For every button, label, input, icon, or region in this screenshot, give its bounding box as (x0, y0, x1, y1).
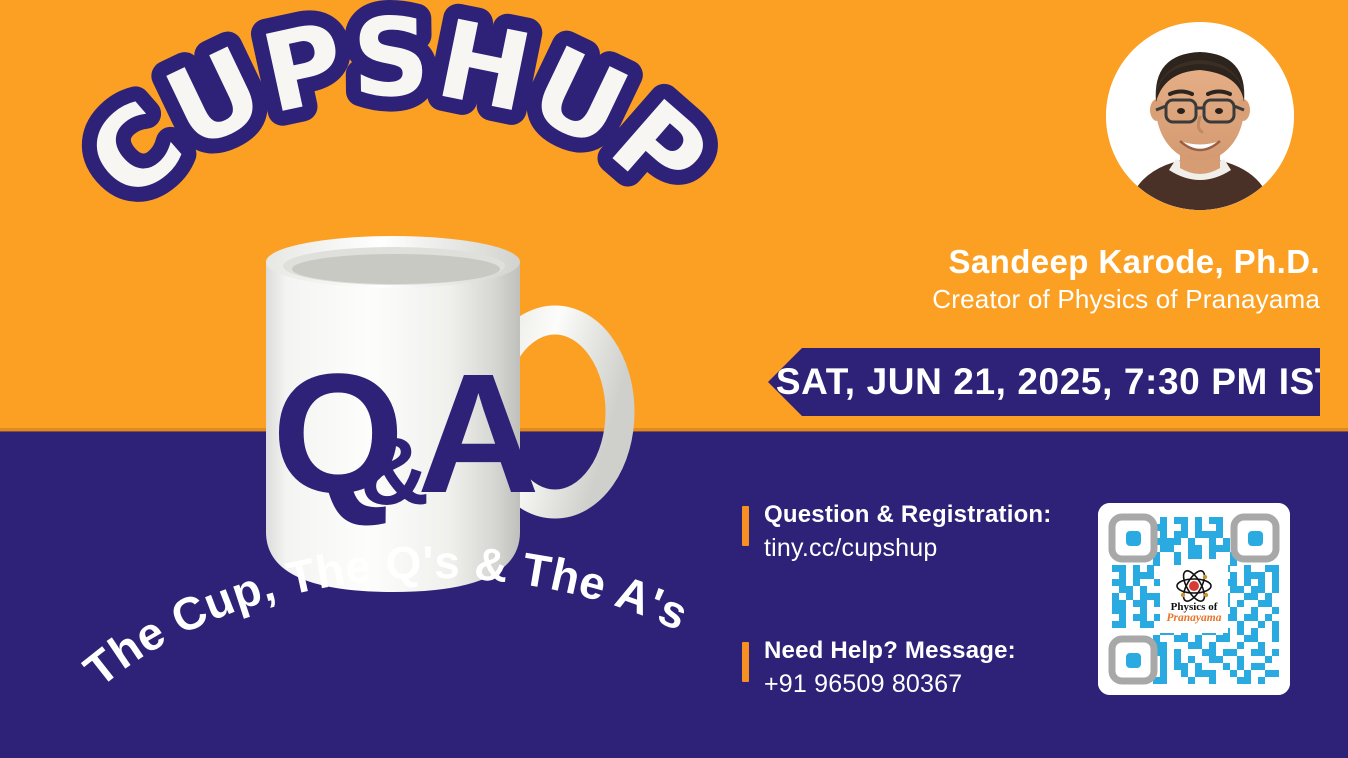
qr-code[interactable]: Physics of Pranayama (1098, 503, 1290, 695)
accent-bar (742, 642, 749, 682)
qa-letter-a: A (417, 339, 540, 529)
speaker-role: Creator of Physics of Pranayama (700, 284, 1320, 315)
event-datetime-text: SAT, JUN 21, 2025, 7:30 PM IST (776, 361, 1338, 403)
band-divider (0, 428, 1348, 432)
cupshup-logo: CUPSHUP CUPSHUP (78, 48, 718, 263)
registration-link[interactable]: tiny.cc/cupshup (764, 532, 1102, 565)
accent-bar (742, 506, 749, 546)
tagline: The Cup, The Q's & The A's! (96, 578, 696, 708)
qr-logo-line2: Pranayama (1167, 612, 1222, 624)
atom-nucleus (1189, 581, 1199, 591)
speaker-avatar (1106, 22, 1294, 210)
contact-registration: Question & Registration: tiny.cc/cupshup (742, 500, 1102, 565)
speaker-info: Sandeep Karode, Ph.D. Creator of Physics… (700, 244, 1320, 315)
help-phone-number[interactable]: +91 96509 80367 (764, 668, 1102, 701)
mug-interior-shadow (292, 254, 500, 284)
event-datetime-banner: SAT, JUN 21, 2025, 7:30 PM IST (768, 348, 1320, 416)
contact-heading: Need Help? Message: (764, 636, 1102, 666)
speaker-name: Sandeep Karode, Ph.D. (700, 244, 1320, 281)
contact-help: Need Help? Message: +91 96509 80367 (742, 636, 1102, 701)
contact-heading: Question & Registration: (764, 500, 1102, 530)
mug-qa-text: Q & A (270, 352, 520, 522)
promo-poster: CUPSHUP CUPSHUP (0, 0, 1348, 758)
